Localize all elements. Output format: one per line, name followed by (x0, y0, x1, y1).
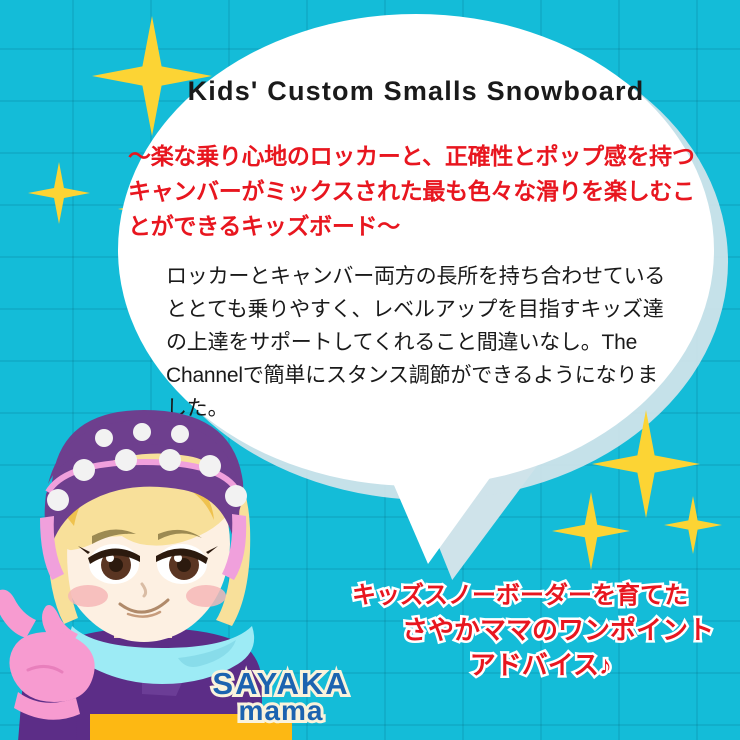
star-bottom-right-medium (552, 492, 630, 570)
advice-line-3: アドバイス♪ (330, 648, 730, 683)
beanie-dot (225, 485, 247, 507)
lead-headline: 〜楽な乗り心地のロッカーと、正確性とポップ感を持つキャンバーがミックスされた最も… (128, 139, 704, 244)
logo-secondary: mama (186, 697, 376, 725)
advice-line-2: さやかママのワンポイント (330, 613, 730, 648)
star-bottom-right-small (664, 496, 722, 554)
blush-left (68, 585, 108, 607)
advice-callout: キッズスノーボーダーを育てた さやかママのワンポイント アドバイス♪ (330, 578, 730, 683)
beanie-dot (199, 455, 221, 477)
beanie-dot (73, 459, 95, 481)
beanie-dot (171, 425, 189, 443)
beanie-dot (47, 489, 69, 511)
beanie-dot (159, 449, 181, 471)
body-description: ロッカーとキャンバー両方の長所を持ち合わせているととても乗りやすく、レベルアップ… (166, 260, 666, 425)
advice-line-1: キッズスノーボーダーを育てた (330, 578, 730, 613)
beanie-dot (115, 449, 137, 471)
beanie-dot (95, 429, 113, 447)
product-title: Kids' Custom Smalls Snowboard (118, 76, 714, 107)
star-top-left-small (28, 162, 90, 224)
mitten-finger-1 (0, 590, 36, 638)
blush-right (186, 585, 226, 607)
poster-canvas: Kids' Custom Smalls Snowboard 〜楽な乗り心地のロッ… (0, 0, 740, 740)
beanie-dot (133, 423, 151, 441)
sayaka-mama-logo: SAYAKA mama (186, 668, 376, 730)
